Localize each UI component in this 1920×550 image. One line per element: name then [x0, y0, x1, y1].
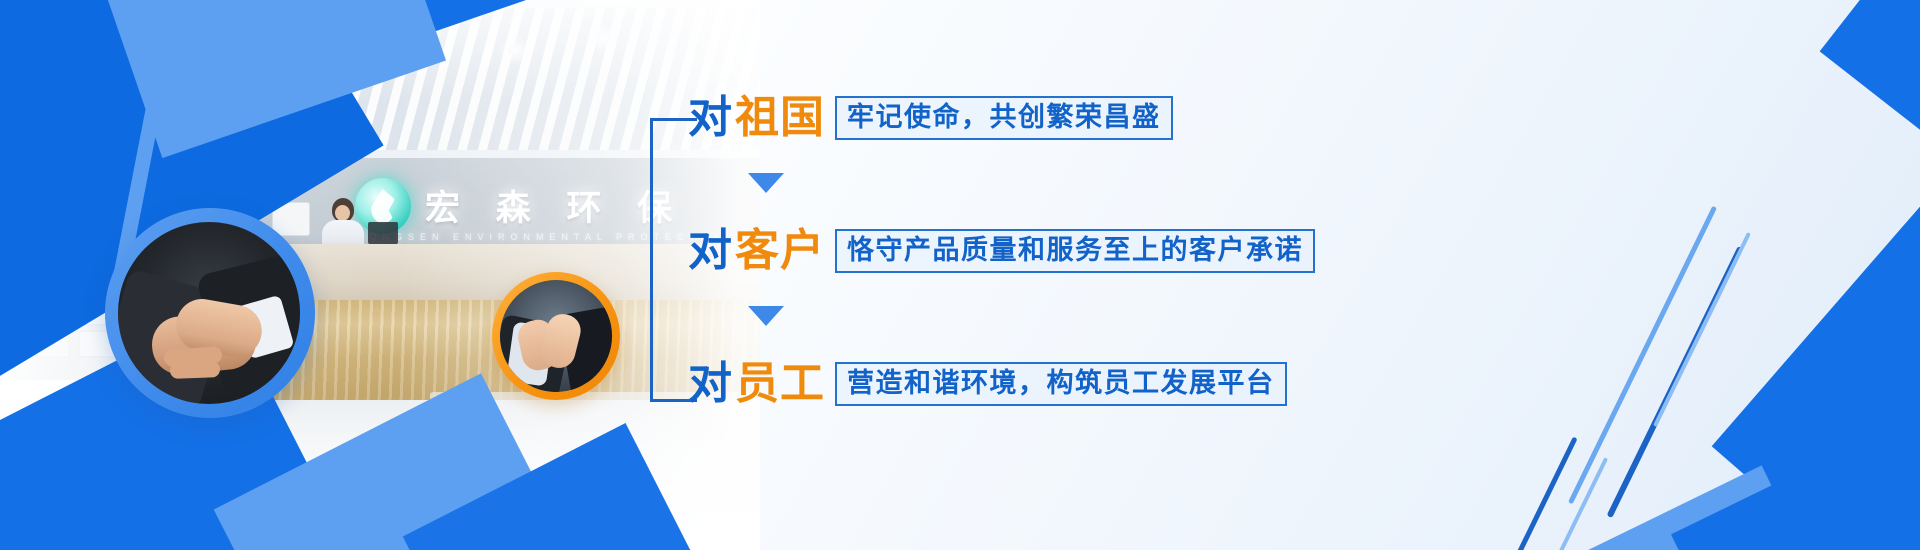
handshake-photo	[118, 222, 300, 404]
decorative-polygon-right-top	[1820, 0, 1920, 168]
monitor-secondary	[368, 222, 398, 244]
slogan-prefix: 对	[688, 229, 733, 273]
downlight	[596, 34, 609, 43]
downlight	[508, 46, 521, 55]
slogan-list: 对 祖国 牢记使命，共创繁荣昌盛 对 客户 恪守产品质量和服务至上的客户承诺 对…	[650, 70, 1390, 470]
slogan-row-employee: 对 员工 营造和谐环境，构筑员工发展平台	[688, 356, 1287, 412]
receptionist-face	[335, 205, 350, 221]
corporate-culture-banner: 宏 森 环 保 HONGSEN ENVIRONMENTAL PROTECTION	[0, 0, 1920, 550]
decorative-line	[1568, 206, 1717, 505]
slogan-chip: 恪守产品质量和服务至上的客户承诺	[835, 229, 1315, 274]
applause-photo	[500, 280, 612, 392]
slogan-prefix: 对	[688, 362, 733, 406]
slogan-chip: 牢记使命，共创繁荣昌盛	[835, 96, 1173, 141]
slogan-chip: 营造和谐环境，构筑员工发展平台	[835, 362, 1287, 407]
arrow-down-icon	[748, 173, 784, 193]
slogan-target: 员工	[735, 362, 825, 406]
slogan-prefix: 对	[688, 96, 733, 140]
slogan-text: 营造和谐环境，构筑员工发展平台	[847, 369, 1275, 399]
slogan-target: 客户	[735, 229, 825, 273]
company-logo-text: 宏 森 环 保	[425, 180, 685, 231]
slogan-target: 祖国	[735, 96, 825, 140]
slogan-row-customer: 对 客户 恪守产品质量和服务至上的客户承诺	[688, 223, 1315, 279]
finger	[170, 361, 221, 379]
slogan-text: 恪守产品质量和服务至上的客户承诺	[847, 236, 1303, 266]
decorative-line	[1653, 232, 1751, 427]
slogan-row-country: 对 祖国 牢记使命，共创繁荣昌盛	[688, 90, 1173, 146]
slogan-text: 牢记使命，共创繁荣昌盛	[847, 103, 1161, 133]
arrow-down-icon	[748, 306, 784, 326]
